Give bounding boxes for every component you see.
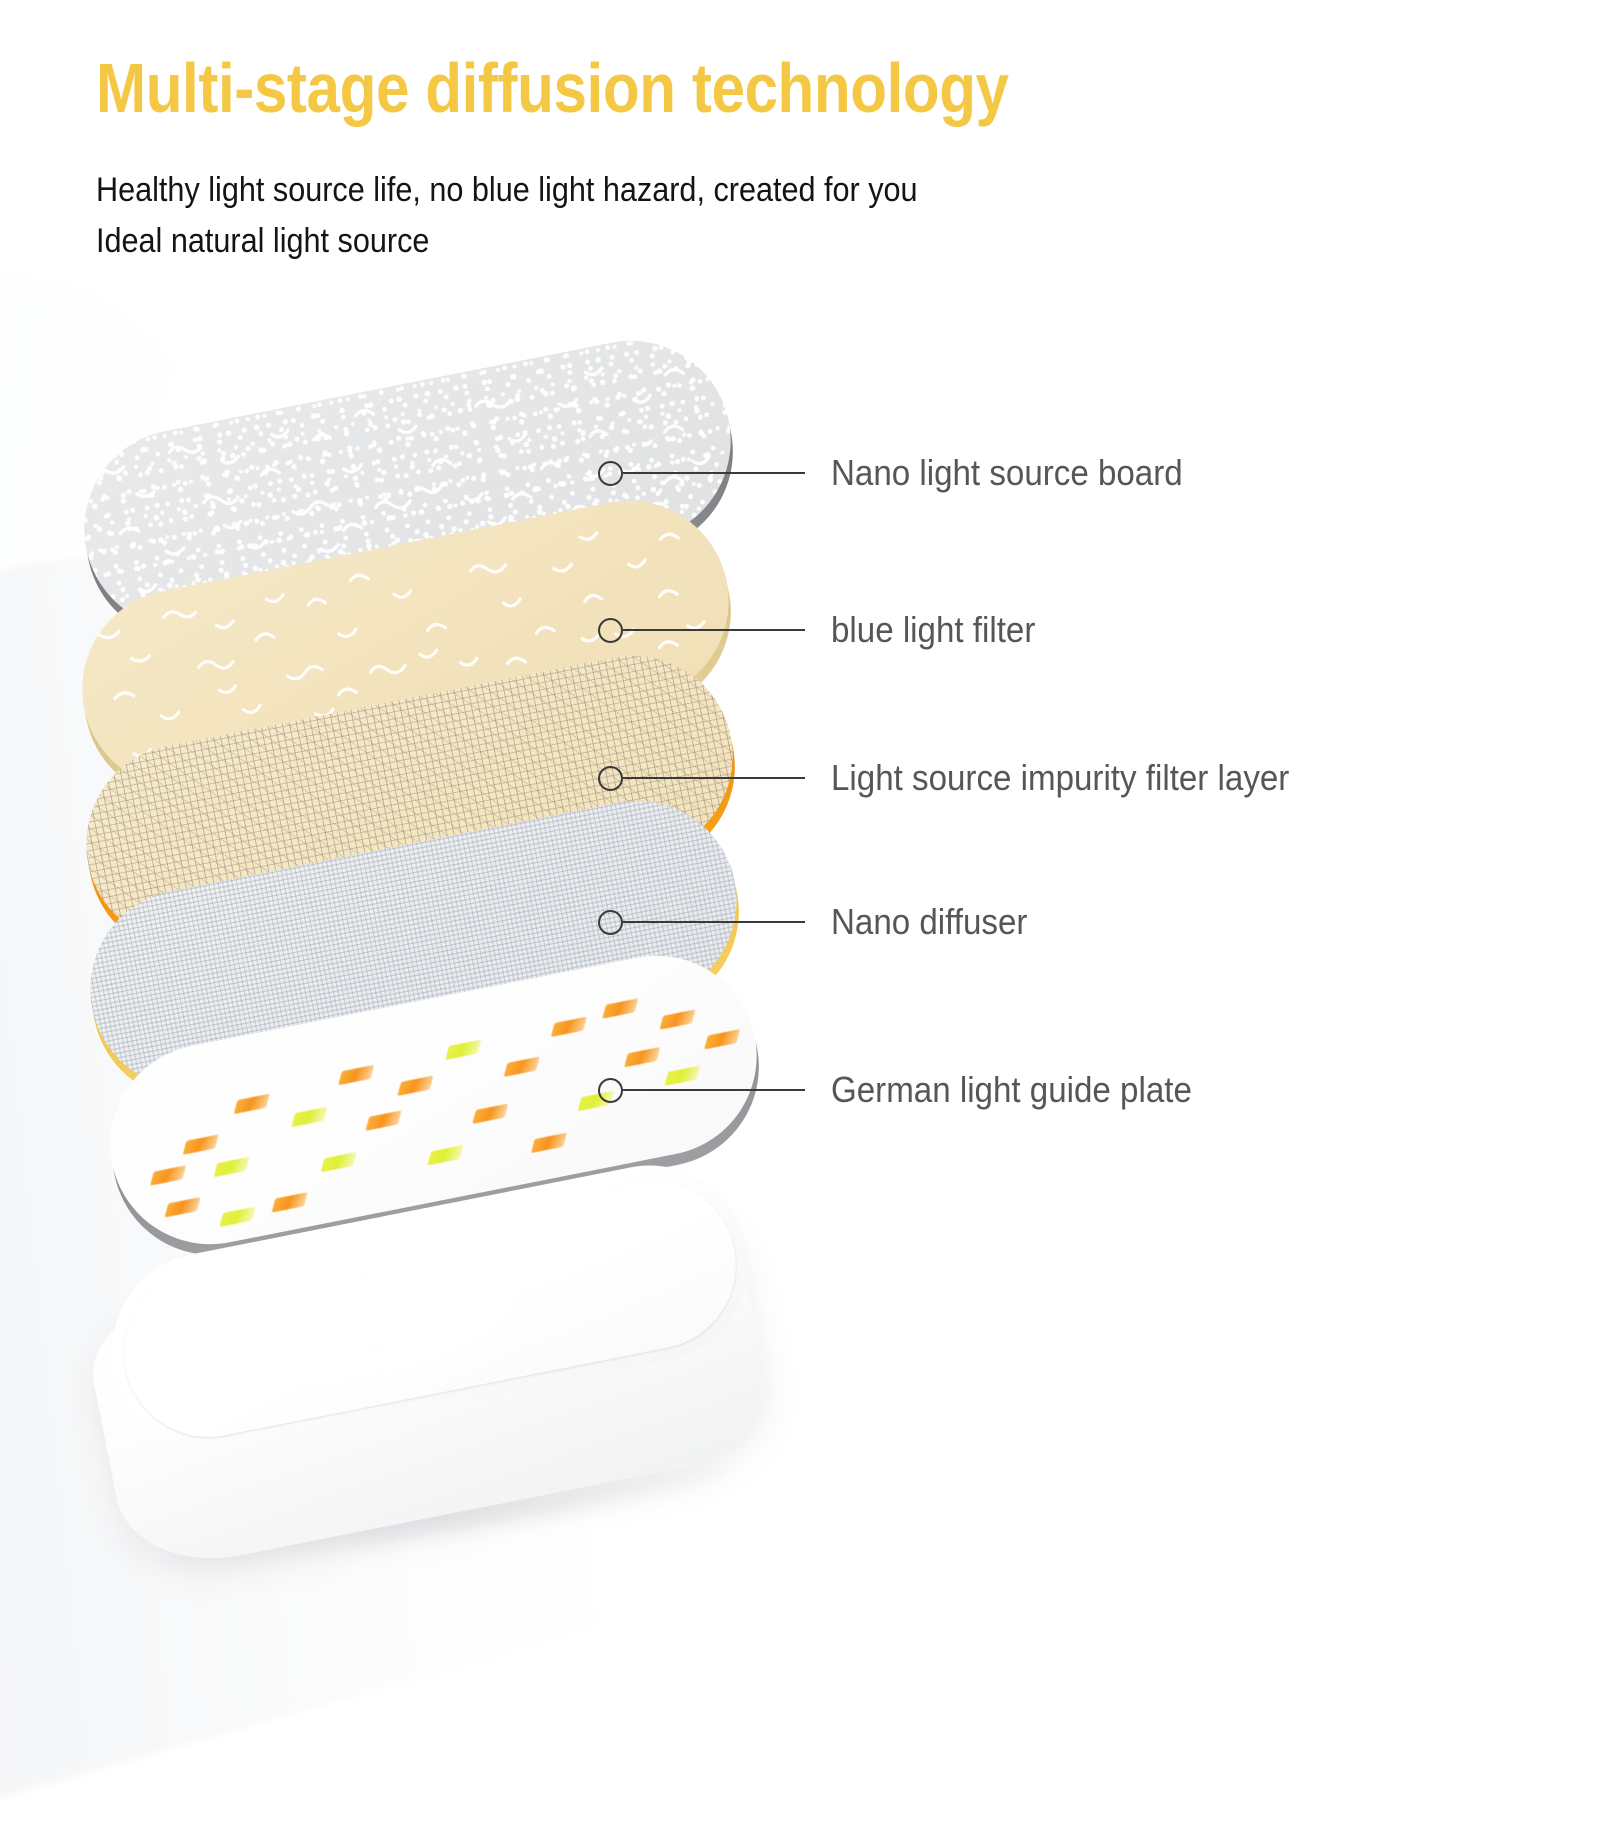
callout-blue-light-filter[interactable]: blue light filter bbox=[598, 609, 1053, 651]
callout-leader-line bbox=[623, 777, 805, 779]
callout-nano-light-source-board[interactable]: Nano light source board bbox=[598, 452, 1213, 494]
callout-marker-icon bbox=[598, 461, 623, 486]
callout-light-source-impurity-filter-layer[interactable]: Light source impurity filter layer bbox=[598, 757, 1329, 799]
callout-leader-line bbox=[623, 1089, 805, 1091]
callout-german-light-guide-plate[interactable]: German light guide plate bbox=[598, 1069, 1223, 1111]
callout-leader-line bbox=[623, 921, 805, 923]
callout-label: German light guide plate bbox=[831, 1069, 1192, 1111]
callout-marker-icon bbox=[598, 618, 623, 643]
callout-leader-line bbox=[623, 472, 805, 474]
callout-label: Nano light source board bbox=[831, 452, 1183, 494]
callout-label: blue light filter bbox=[831, 609, 1035, 651]
callout-leader-line bbox=[623, 629, 805, 631]
lamp-housing bbox=[100, 1195, 760, 1545]
callout-nano-diffuser[interactable]: Nano diffuser bbox=[598, 901, 1044, 943]
callout-marker-icon bbox=[598, 1078, 623, 1103]
callout-label: Light source impurity filter layer bbox=[831, 757, 1289, 799]
callout-marker-icon bbox=[598, 910, 623, 935]
callout-marker-icon bbox=[598, 766, 623, 791]
callout-label: Nano diffuser bbox=[831, 901, 1027, 943]
